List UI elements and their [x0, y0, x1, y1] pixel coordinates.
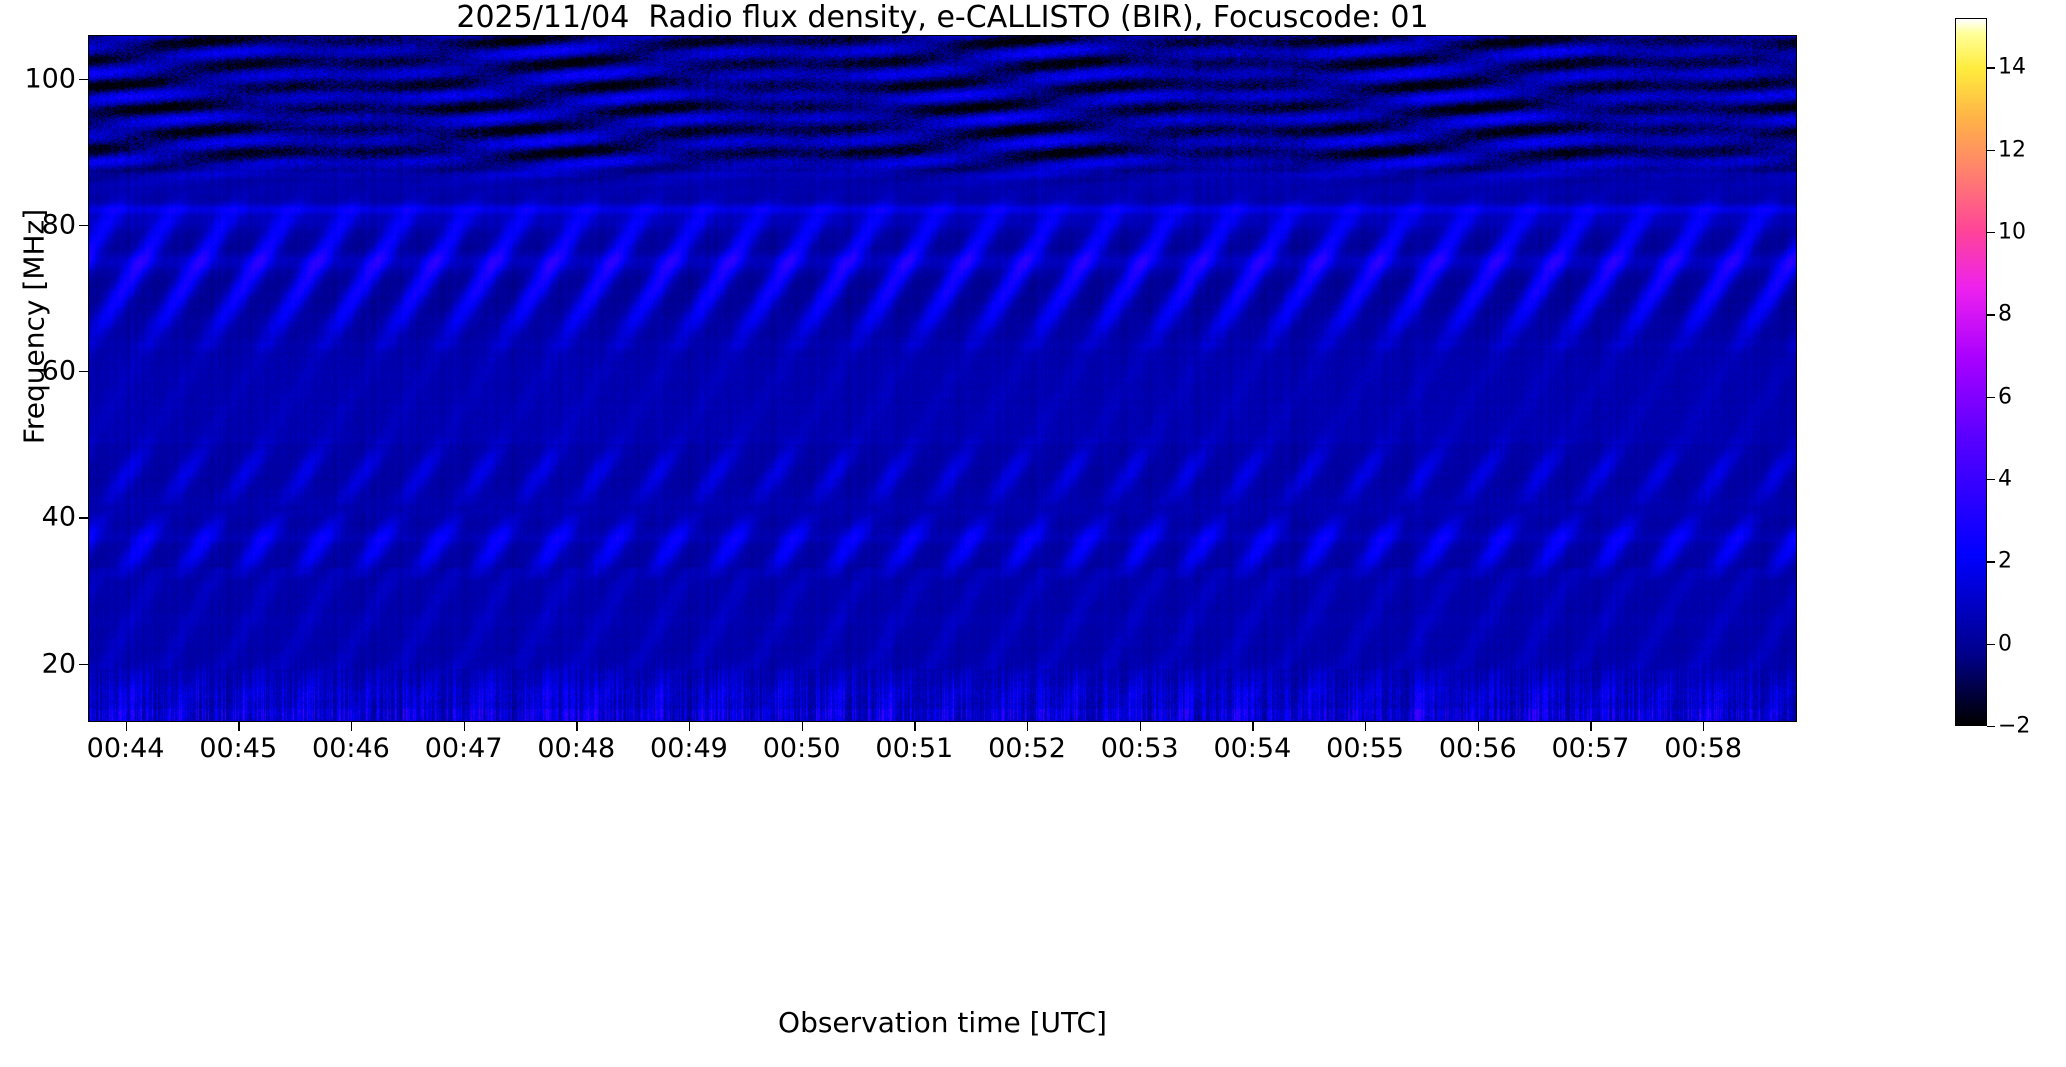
x-axis-tick-label: 00:53: [1101, 733, 1179, 764]
y-axis-tick-label: 100: [24, 63, 76, 94]
x-axis-tick-mark: [351, 722, 352, 731]
y-axis-tick-mark: [79, 517, 88, 518]
x-axis-tick-mark: [576, 722, 577, 731]
colorbar-tick-mark: [1987, 726, 1995, 727]
colorbar-tick-mark: [1987, 479, 1995, 480]
x-axis-tick-mark: [1027, 722, 1028, 731]
x-axis-tick-mark: [464, 722, 465, 731]
x-axis-tick-mark: [1365, 722, 1366, 731]
x-axis-tick-label: 00:58: [1664, 733, 1742, 764]
x-axis-label: Observation time [UTC]: [88, 1006, 1797, 1039]
colorbar-tick-mark: [1987, 232, 1995, 233]
x-axis-tick-mark: [1478, 722, 1479, 731]
y-axis-tick-mark: [79, 371, 88, 372]
x-axis-tick-marks: [88, 722, 1797, 731]
x-axis-tick-mark: [1140, 722, 1141, 731]
x-axis-tick-mark: [1703, 722, 1704, 731]
x-axis-tick-label: 00:50: [763, 733, 841, 764]
colorbar-tick-mark: [1987, 67, 1995, 68]
colorbar-tick-mark: [1987, 644, 1995, 645]
x-axis-tick-label: 00:57: [1552, 733, 1630, 764]
colorbar-tick-label: 6: [1998, 384, 2012, 409]
chart-title: 2025/11/04 Radio flux density, e-CALLIST…: [88, 2, 1797, 34]
x-axis-tick-mark: [802, 722, 803, 731]
x-axis-tick-mark: [126, 722, 127, 731]
colorbar-tick-mark: [1987, 397, 1995, 398]
colorbar-tick-label: −2: [1998, 714, 2030, 739]
x-axis-tick-label: 00:44: [87, 733, 165, 764]
x-axis-tick-mark: [1590, 722, 1591, 731]
x-axis-tick-labels: 00:4400:4500:4600:4700:4800:4900:5000:51…: [88, 733, 1797, 773]
x-axis-tick-mark: [689, 722, 690, 731]
x-axis-tick-label: 00:47: [425, 733, 503, 764]
colorbar: [1955, 18, 1987, 726]
x-axis-tick-label: 00:48: [537, 733, 615, 764]
x-axis-tick-mark: [238, 722, 239, 731]
x-axis-tick-label: 00:54: [1213, 733, 1291, 764]
colorbar-tick-label: 10: [1998, 220, 2026, 245]
x-axis-tick-label: 00:56: [1439, 733, 1517, 764]
x-axis-tick-mark: [1252, 722, 1253, 731]
colorbar-tick-labels: 14121086420−2: [1998, 18, 2044, 726]
spectrogram-image: [89, 36, 1796, 721]
spectrogram-plot-area[interactable]: [88, 35, 1797, 722]
x-axis-tick-label: 00:51: [875, 733, 953, 764]
colorbar-gradient: [1956, 19, 1986, 725]
colorbar-tick-label: 4: [1998, 467, 2012, 492]
y-axis-tick-mark: [79, 664, 88, 665]
x-axis-tick-label: 00:55: [1326, 733, 1404, 764]
x-axis-tick-mark: [914, 722, 915, 731]
colorbar-tick-mark: [1987, 150, 1995, 151]
colorbar-tick-label: 8: [1998, 302, 2012, 327]
y-axis-tick-label: 20: [42, 648, 76, 679]
colorbar-tick-marks: [1987, 18, 1996, 726]
colorbar-tick-label: 0: [1998, 631, 2012, 656]
colorbar-tick-label: 12: [1998, 137, 2026, 162]
x-axis-tick-label: 00:45: [199, 733, 277, 764]
figure-canvas: 2025/11/04 Radio flux density, e-CALLIST…: [0, 0, 2066, 1067]
colorbar-tick-mark: [1987, 314, 1995, 315]
colorbar-tick-mark: [1987, 561, 1995, 562]
y-axis-label: Frequency [MHz]: [18, 117, 51, 537]
y-axis-tick-mark: [79, 225, 88, 226]
x-axis-tick-label: 00:52: [988, 733, 1066, 764]
y-axis-tick-mark: [79, 79, 88, 80]
x-axis-tick-label: 00:46: [312, 733, 390, 764]
colorbar-tick-label: 2: [1998, 549, 2012, 574]
colorbar-tick-label: 14: [1998, 55, 2026, 80]
x-axis-tick-label: 00:49: [650, 733, 728, 764]
